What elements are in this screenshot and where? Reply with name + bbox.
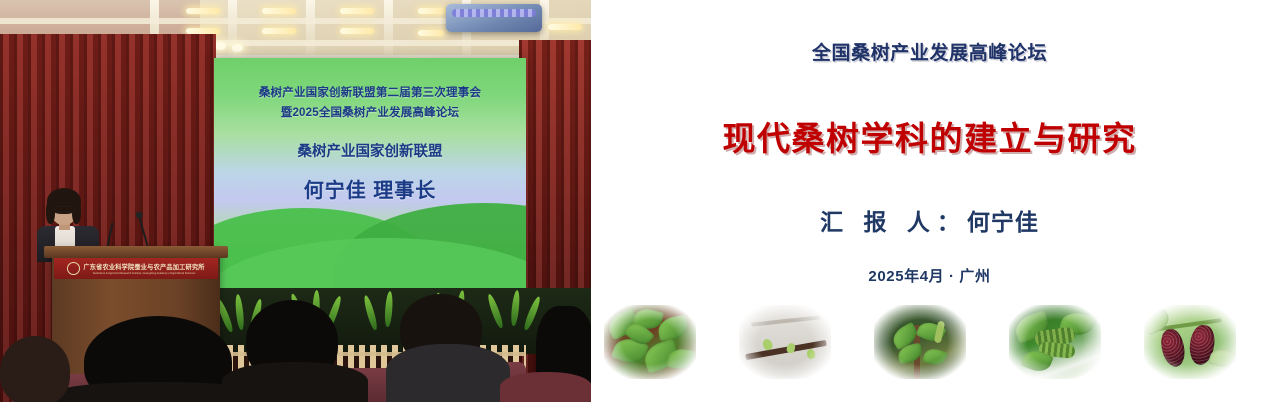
ceiling-light bbox=[340, 28, 374, 34]
slide-screenshot: 桑树产业国家创新联盟第二届第三次理事会 暨2025全国桑树产业发展高峰论坛 桑树… bbox=[0, 0, 1268, 402]
ceiling-projector bbox=[446, 4, 542, 32]
ceiling-beam bbox=[306, 0, 315, 62]
thumbnail-mulberry-leaves bbox=[604, 305, 696, 379]
screen-line-3: 桑树产业国家创新联盟 bbox=[214, 140, 526, 161]
downlight bbox=[215, 42, 226, 50]
thumbnail-mulberry-bud-branch bbox=[739, 305, 831, 379]
page-title: 现代桑树学科的建立与研究 bbox=[591, 112, 1268, 160]
ceiling-light bbox=[262, 8, 296, 14]
screen-line-1: 桑树产业国家创新联盟第二届第三次理事会 bbox=[214, 84, 526, 100]
thumbnail-mulberry-flower bbox=[1009, 305, 1101, 379]
conference-photo: 桑树产业国家创新联盟第二届第三次理事会 暨2025全国桑树产业发展高峰论坛 桑树… bbox=[0, 0, 591, 402]
projection-screen: 桑树产业国家创新联盟第二届第三次理事会 暨2025全国桑树产业发展高峰论坛 桑树… bbox=[214, 58, 526, 288]
audience-shoulders bbox=[500, 372, 591, 402]
ceiling-light bbox=[262, 28, 296, 34]
audience-shoulders bbox=[386, 344, 510, 402]
podium-sign-chinese: 广东省农业科学院蚕业与农产品加工研究所 bbox=[83, 262, 204, 271]
presenter-label: 汇 报 人： bbox=[820, 209, 967, 235]
date-and-city: 2025年4月 · 广州 bbox=[591, 265, 1268, 286]
ceiling-light bbox=[548, 24, 582, 30]
screen-line-4: 何宁佳 理事长 bbox=[214, 174, 526, 203]
ceiling-light bbox=[418, 30, 444, 36]
speaker-hair bbox=[46, 200, 55, 224]
audience-shoulders bbox=[222, 362, 368, 402]
thumbnail-mulberry-new-shoot bbox=[874, 305, 966, 379]
presentation-title-slide: 全国桑树产业发展高峰论坛 现代桑树学科的建立与研究 汇 报 人：何宁佳 2025… bbox=[591, 0, 1268, 402]
ceiling-light bbox=[418, 8, 446, 14]
ceiling-beam bbox=[228, 0, 237, 62]
speaker-glasses bbox=[55, 206, 75, 213]
podium-sign-english: Sericulture & Agri-Food Research Institu… bbox=[93, 272, 196, 275]
audience-head bbox=[0, 336, 70, 402]
thumbnail-mulberry-fruit bbox=[1144, 305, 1236, 379]
downlight bbox=[232, 44, 243, 52]
thumbnail-strip bbox=[591, 305, 1268, 391]
presenter-line: 汇 报 人：何宁佳 bbox=[591, 203, 1268, 237]
presenter-name: 何宁佳 bbox=[967, 209, 1039, 235]
screen-line-2: 暨2025全国桑树产业发展高峰论坛 bbox=[214, 104, 526, 120]
ceiling-light bbox=[186, 8, 220, 14]
ceiling-beam bbox=[384, 0, 393, 62]
forum-heading: 全国桑树产业发展高峰论坛 bbox=[591, 38, 1268, 65]
ceiling-light bbox=[340, 8, 374, 14]
podium-top bbox=[44, 246, 228, 258]
institute-seal-icon bbox=[67, 262, 80, 275]
podium-sign: 广东省农业科学院蚕业与农产品加工研究所 Sericulture & Agri-F… bbox=[54, 258, 218, 279]
